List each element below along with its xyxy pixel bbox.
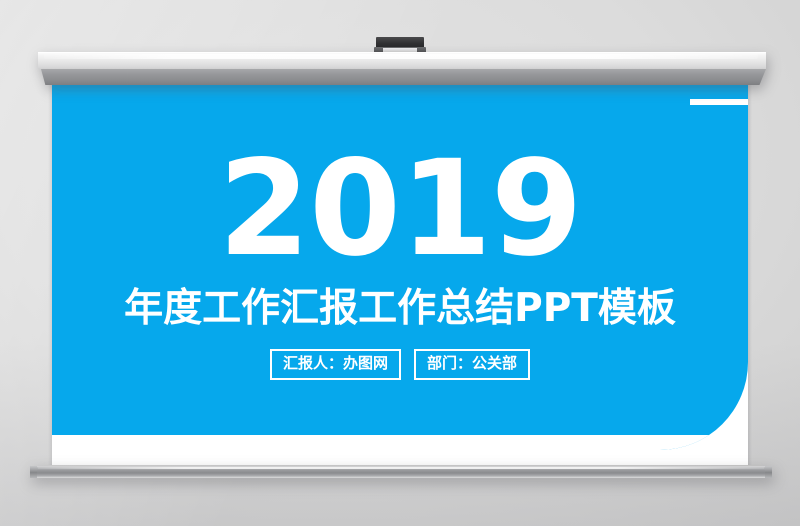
meta-box-department: 部门：公关部 xyxy=(414,349,530,379)
presentation-slide: 2019 年度工作汇报工作总结PPT模板 汇报人：办图网 部门：公关部 xyxy=(52,85,748,450)
page-title-year: 2019 xyxy=(218,153,581,267)
weight-bar-highlight xyxy=(38,467,764,469)
meta-box-presenter: 汇报人：办图网 xyxy=(270,349,401,379)
weight-bar-cap-left xyxy=(30,466,37,478)
wall-background: 2019 年度工作汇报工作总结PPT模板 汇报人：办图网 部门：公关部 xyxy=(0,0,800,526)
casing-highlight xyxy=(44,54,758,59)
slide-content: 2019 年度工作汇报工作总结PPT模板 汇报人：办图网 部门：公关部 xyxy=(52,85,748,450)
screen-roller-casing xyxy=(38,52,766,85)
screen-edge-shadow-right xyxy=(748,85,752,465)
slide-bottom-strip xyxy=(52,435,748,450)
projection-screen-surface: 2019 年度工作汇报工作总结PPT模板 汇报人：办图网 部门：公关部 xyxy=(52,85,748,465)
projector-screen-unit: 2019 年度工作汇报工作总结PPT模板 汇报人：办图网 部门：公关部 xyxy=(0,0,800,526)
casing-bottom-lip xyxy=(41,69,766,85)
wall-mount-bracket-icon xyxy=(374,37,426,53)
slide-meta-row: 汇报人：办图网 部门：公关部 xyxy=(270,349,530,379)
weight-bar-cap-right xyxy=(765,466,772,478)
slide-subtitle: 年度工作汇报工作总结PPT模板 xyxy=(124,289,676,330)
screen-weight-bar[interactable] xyxy=(30,466,772,478)
